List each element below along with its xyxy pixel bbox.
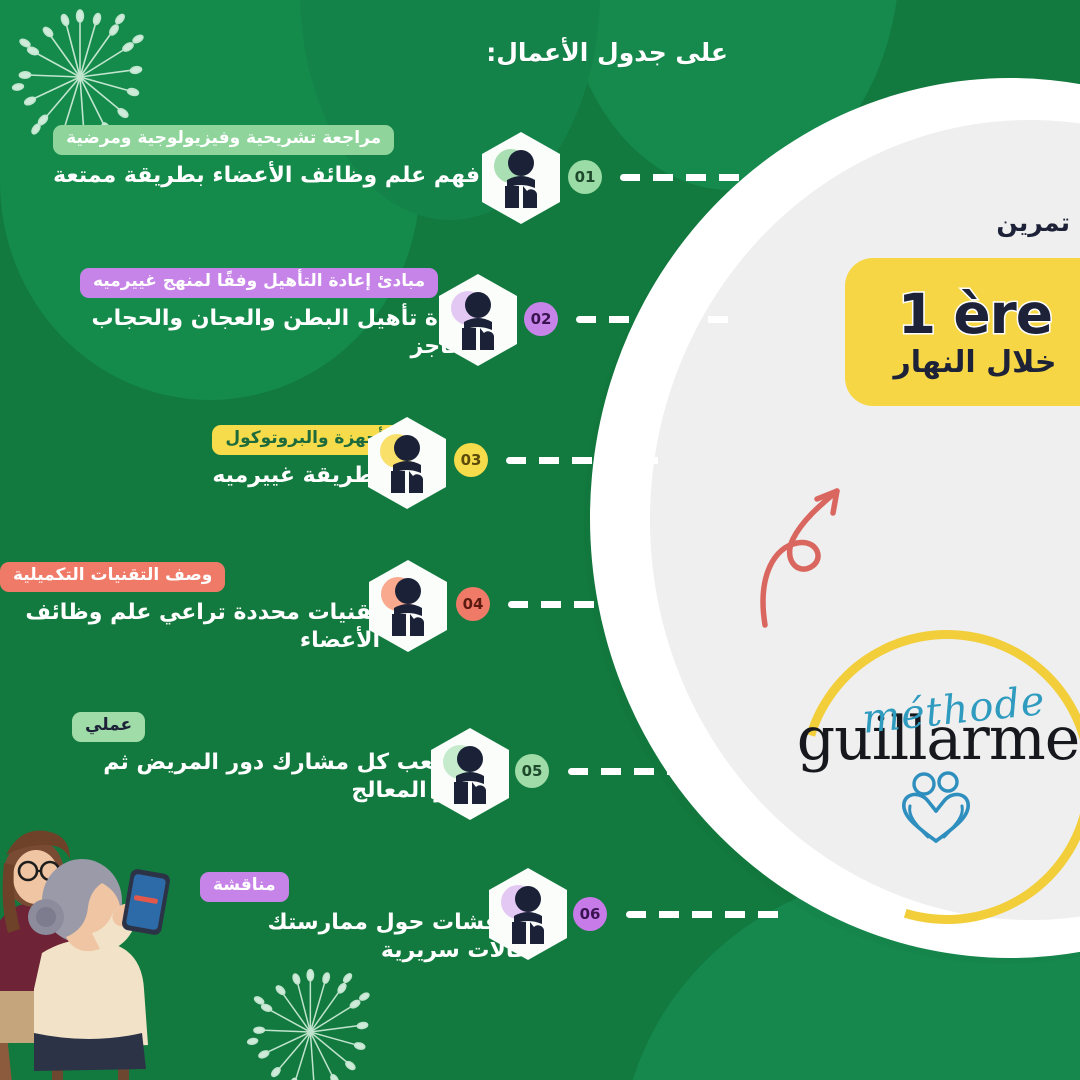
agenda-item-05-connector (568, 768, 728, 775)
agenda-item-05-texts: عملي سيلعب كل مشارك دور المريض ثم دور ال… (72, 712, 472, 805)
agenda-item-06-connector (626, 911, 786, 918)
agenda-item-02[interactable]: مبادئ إعادة التأهيل وفقًا لمنهج غييرميه … (80, 268, 480, 361)
agenda-item-03-avatar (363, 415, 451, 515)
agenda-item-01-description: فهم علم وظائف الأعضاء بطريقة ممتعة (53, 162, 480, 190)
agenda-item-03-description: طريقة غييرميه (212, 462, 374, 490)
agenda-item-01-pill: مراجعة تشريحية وفيزيولوجية ومرضية (53, 125, 394, 155)
session-badge-main: 1 ère (898, 287, 1052, 342)
infographic-canvas: على جدول الأعمال: مراجعة تشريحية وفيزيول… (0, 0, 1080, 1080)
agenda-item-01-avatar (477, 130, 565, 230)
agenda-item-04-pill: وصف التقنيات التكميلية (0, 562, 225, 592)
agenda-item-06-avatar (484, 866, 572, 966)
agenda-item-05-number: 05 (515, 754, 549, 788)
agenda-item-05-description: سيلعب كل مشارك دور المريض ثم دور المعالج (72, 749, 472, 805)
page-title: على جدول الأعمال: (486, 38, 728, 67)
agenda-item-03-connector (506, 457, 666, 464)
agenda-item-04-avatar (364, 558, 452, 658)
exercise-label: تمرين (996, 208, 1070, 237)
agenda-item-02-pill: مبادئ إعادة التأهيل وفقًا لمنهج غييرميه (80, 268, 438, 298)
agenda-item-01-connector (620, 174, 800, 181)
brand-logo: méthode guillarme (800, 630, 1076, 906)
agenda-item-06-description: مناقشات حول ممارستك حالات سريرية (200, 909, 530, 965)
session-badge: 1 ère خلال النهار (845, 258, 1080, 406)
agenda-item-04-description: تقنيات محددة تراعي علم وظائف الأعضاء (0, 599, 380, 655)
agenda-item-06[interactable]: مناقشة مناقشات حول ممارستك حالات سريرية (200, 872, 530, 965)
agenda-item-04-connector (508, 601, 658, 608)
agenda-item-06-number: 06 (573, 897, 607, 931)
session-badge-sub: خلال النهار (893, 348, 1056, 378)
agenda-item-01-texts: مراجعة تشريحية وفيزيولوجية ومرضية فهم عل… (53, 125, 480, 190)
agenda-item-05-pill: عملي (72, 712, 145, 742)
agenda-item-04[interactable]: وصف التقنيات التكميلية تقنيات محددة تراع… (0, 562, 380, 655)
agenda-item-02-description: إعادة تأهيل البطن والعجان والحجاب الحاجز (80, 305, 480, 361)
dandelion-burst-icon-bottom (240, 965, 390, 1080)
agenda-item-02-number: 02 (524, 302, 558, 336)
agenda-item-06-texts: مناقشة مناقشات حول ممارستك حالات سريرية (200, 872, 530, 965)
agenda-item-02-connector (576, 316, 736, 323)
agenda-item-02-avatar (434, 272, 522, 372)
two-people-heart-icon (890, 771, 986, 847)
agenda-item-02-texts: مبادئ إعادة التأهيل وفقًا لمنهج غييرميه … (80, 268, 480, 361)
therapist-and-elderly-patient-illustration (0, 805, 220, 1080)
agenda-item-04-texts: وصف التقنيات التكميلية تقنيات محددة تراع… (0, 562, 380, 655)
agenda-item-05[interactable]: عملي سيلعب كل مشارك دور المريض ثم دور ال… (72, 712, 472, 805)
curly-up-arrow-icon (745, 455, 875, 635)
agenda-item-01[interactable]: مراجعة تشريحية وفيزيولوجية ومرضية فهم عل… (53, 125, 480, 190)
agenda-item-01-number: 01 (568, 160, 602, 194)
agenda-item-04-number: 04 (456, 587, 490, 621)
agenda-item-03-number: 03 (454, 443, 488, 477)
agenda-item-05-avatar (426, 726, 514, 826)
background-blob-bottom (560, 985, 1080, 1080)
